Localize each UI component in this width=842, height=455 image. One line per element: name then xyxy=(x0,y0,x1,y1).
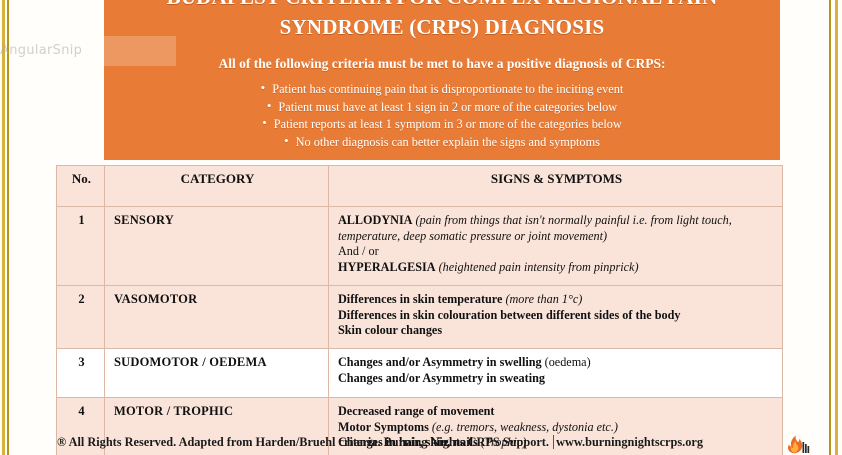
cell-category: SUDOMOTOR / OEDEMA xyxy=(105,349,329,398)
table-row: 1SENSORYALLODYNIA (pain from things that… xyxy=(57,207,783,286)
table-row: 2VASOMOTORDifferences in skin temperatur… xyxy=(57,286,783,349)
criteria-bullet-list: Patient has continuing pain that is disp… xyxy=(110,80,774,154)
footer-url[interactable]: www.burningnightscrps.org xyxy=(553,435,703,449)
gold-border-outer-right xyxy=(835,0,838,455)
burning-nights-flame-logo xyxy=(784,434,810,454)
table-header-row: No. CATEGORY SIGNS & SYMPTOMS xyxy=(57,166,783,207)
criteria-table-body: 1SENSORYALLODYNIA (pain from things that… xyxy=(57,207,783,455)
gold-border-outer-left xyxy=(2,0,5,455)
gold-border-inner-right xyxy=(829,0,831,455)
orange-banner: BUDAPEST CRITERIA FOR COMPEX REGIONAL PA… xyxy=(104,0,780,160)
signs-line: Differences in skin temperature (more th… xyxy=(338,292,775,308)
table-row: 3SUDOMOTOR / OEDEMAChanges and/or Asymme… xyxy=(57,349,783,398)
gold-border-inner-left xyxy=(7,0,9,455)
cell-row-number: 3 xyxy=(57,349,105,398)
signs-line: ALLODYNIA (pain from things that isn't n… xyxy=(338,213,775,244)
criteria-bullet-4: No other diagnosis can better explain th… xyxy=(110,133,774,151)
criteria-bullet-1: Patient has continuing pain that is disp… xyxy=(110,80,774,98)
cell-row-number: 1 xyxy=(57,207,105,286)
cell-signs-symptoms: Differences in skin temperature (more th… xyxy=(329,286,783,349)
cell-category: SENSORY xyxy=(105,207,329,286)
cell-signs-symptoms: Changes and/or Asymmetry in swelling (oe… xyxy=(329,349,783,398)
signs-line: Differences in skin colouration between … xyxy=(338,308,775,324)
signs-line: Motor Symptoms (e.g. tremors, weakness, … xyxy=(338,420,775,436)
cell-row-number: 2 xyxy=(57,286,105,349)
crps-budapest-criteria-page: W BUDAPEST CRITERIA FOR COMPEX REGIONAL … xyxy=(0,0,842,455)
signs-line: And / or xyxy=(338,244,775,260)
column-header-signs: SIGNS & SYMPTOMS xyxy=(329,166,783,207)
signs-line: Skin colour changes xyxy=(338,323,775,339)
criteria-bullet-3: Patient reports at least 1 symptom in 3 … xyxy=(110,115,774,133)
column-header-category: CATEGORY xyxy=(105,166,329,207)
snip-tool-watermark: AngularSnip xyxy=(0,38,120,64)
page-title: BUDAPEST CRITERIA FOR COMPEX REGIONAL PA… xyxy=(110,0,774,42)
signs-line: Changes and/or Asymmetry in swelling (oe… xyxy=(338,355,775,371)
footer-credit-text: ® All Rights Reserved. Adapted from Hard… xyxy=(57,435,549,449)
signs-line: Changes and/or Asymmetry in sweating xyxy=(338,371,775,387)
criteria-table: No. CATEGORY SIGNS & SYMPTOMS 1SENSORYAL… xyxy=(56,165,783,455)
footer-credit: ® All Rights Reserved. Adapted from Hard… xyxy=(57,435,757,450)
cell-category: VASOMOTOR xyxy=(105,286,329,349)
criteria-bullet-2: Patient must have at least 1 sign in 2 o… xyxy=(110,98,774,116)
signs-line: HYPERALGESIA (heightened pain intensity … xyxy=(338,260,775,276)
cell-signs-symptoms: ALLODYNIA (pain from things that isn't n… xyxy=(329,207,783,286)
signs-line: Decreased range of movement xyxy=(338,404,775,420)
banner-subtitle: All of the following criteria must be me… xyxy=(110,56,774,72)
column-header-no: No. xyxy=(57,166,105,207)
